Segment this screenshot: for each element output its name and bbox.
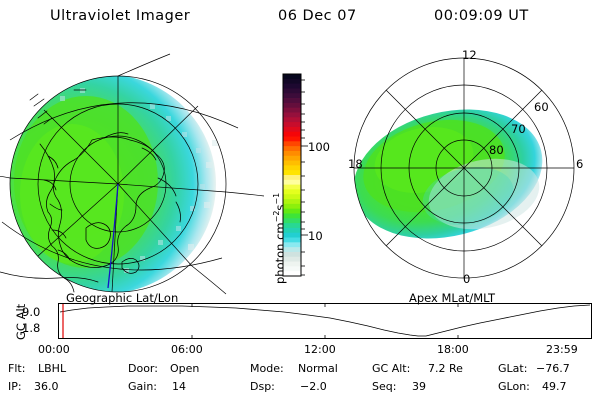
observation-date: 06 Dec 07 <box>278 8 357 24</box>
gain-key: Gain: <box>128 380 157 393</box>
seq-key: Seq: <box>372 380 396 393</box>
orbit-altitude-plot[interactable] <box>58 303 592 339</box>
colorbar: photon cm−2s−1 100 10 <box>258 56 336 288</box>
apex-mlt-panel[interactable] <box>336 44 598 294</box>
time-ticks <box>192 303 458 339</box>
instrument-title: Ultraviolet Imager <box>50 8 190 24</box>
ip-value: 36.0 <box>34 380 59 393</box>
alt-tick-min: 1.8 <box>22 321 40 335</box>
time-tick-0000: 00:00 <box>38 343 70 356</box>
time-tick-0600: 06:00 <box>171 343 203 356</box>
time-tick-1200: 12:00 <box>304 343 336 356</box>
mlt-label-6: 6 <box>576 157 583 171</box>
observation-time: 00:09:09 UT <box>434 8 529 24</box>
flt-value: LBHL <box>38 362 66 375</box>
flt-key: Flt: <box>8 362 25 375</box>
gain-value: 14 <box>172 380 186 393</box>
mode-key: Mode: <box>250 362 284 375</box>
dsp-value: −2.0 <box>300 380 327 393</box>
gcalt-value: 7.2 Re <box>428 362 463 375</box>
status-row-2: IP: 36.0 Gain: 14 Dsp: −2.0 Seq: 39 GLon… <box>8 380 594 396</box>
mlt-label-0: 0 <box>463 272 470 286</box>
glat-value: −76.7 <box>536 362 570 375</box>
time-tick-1800: 18:00 <box>437 343 469 356</box>
glat-key: GLat: <box>498 362 527 375</box>
status-panel: Flt: LBHL Door: Open Mode: Normal GC Alt… <box>8 362 594 396</box>
colorbar-ticks <box>301 80 308 275</box>
colorbar-tick-10: 10 <box>308 229 323 243</box>
door-value: Open <box>170 362 199 375</box>
mlat-label-80: 80 <box>489 143 504 157</box>
colorbar-tick-100: 100 <box>308 140 330 154</box>
mlt-spokes <box>354 58 574 278</box>
geographic-image-panel[interactable] <box>0 44 265 294</box>
status-row-1: Flt: LBHL Door: Open Mode: Normal GC Alt… <box>8 362 594 378</box>
mode-value: Normal <box>298 362 338 375</box>
emission-image <box>0 74 218 294</box>
dsp-key: Dsp: <box>250 380 275 393</box>
glon-value: 49.7 <box>542 380 567 393</box>
mlt-label-12: 12 <box>462 48 477 62</box>
altitude-trace <box>60 305 590 336</box>
alt-tick-max: 9.0 <box>22 305 40 319</box>
ip-key: IP: <box>8 380 22 393</box>
mlt-label-18: 18 <box>348 157 363 171</box>
seq-value: 39 <box>412 380 426 393</box>
mlat-label-70: 70 <box>511 122 526 136</box>
gcalt-key: GC Alt: <box>372 362 410 375</box>
glon-key: GLon: <box>498 380 530 393</box>
door-key: Door: <box>128 362 158 375</box>
time-tick-2359: 23:59 <box>546 343 578 356</box>
colorbar-gradient <box>283 74 301 276</box>
mlat-label-60: 60 <box>534 100 549 114</box>
